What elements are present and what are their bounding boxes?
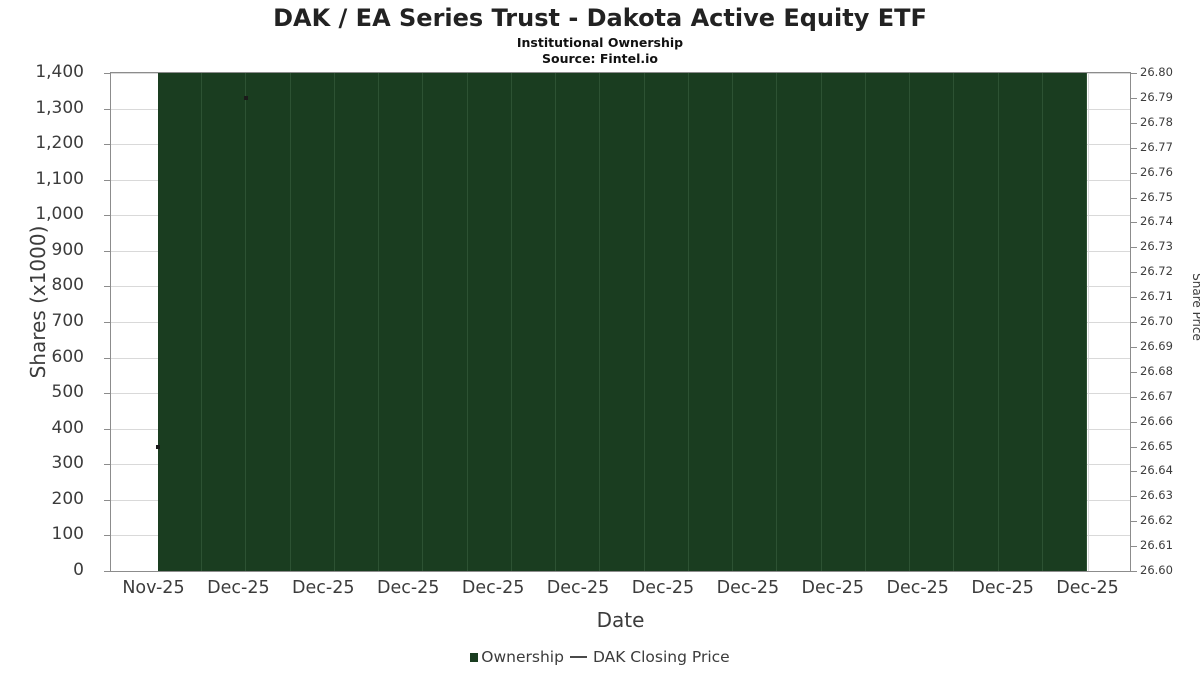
y-axis-left-tick-label: 1,000 bbox=[0, 206, 84, 223]
y-axis-right-tickmark bbox=[1131, 198, 1137, 199]
bar[interactable] bbox=[291, 73, 335, 571]
y-axis-left-tick-label: 300 bbox=[0, 455, 84, 472]
bar[interactable] bbox=[335, 73, 379, 571]
legend-swatch-square-icon bbox=[470, 653, 478, 662]
y-axis-right-tick-label: 26.74 bbox=[1140, 216, 1190, 228]
bar[interactable] bbox=[423, 73, 467, 571]
ownership-bar-series bbox=[111, 73, 1130, 571]
legend-swatch-line-icon bbox=[570, 656, 587, 658]
y-axis-left-tick-label: 0 bbox=[0, 562, 84, 579]
y-axis-right-tickmark bbox=[1131, 98, 1137, 99]
y-axis-right-tickmark bbox=[1131, 571, 1137, 572]
y-axis-right-tickmark bbox=[1131, 471, 1137, 472]
bar[interactable] bbox=[645, 73, 689, 571]
y-axis-right-tickmark bbox=[1131, 247, 1137, 248]
y-axis-left-tick-label: 900 bbox=[0, 242, 84, 259]
y-axis-right-tickmark bbox=[1131, 73, 1137, 74]
y-axis-right-tickmark bbox=[1131, 496, 1137, 497]
bar[interactable] bbox=[733, 73, 777, 571]
legend-item-ownership[interactable]: Ownership bbox=[470, 648, 564, 666]
bar[interactable] bbox=[379, 73, 423, 571]
y-axis-right-tick-label: 26.78 bbox=[1140, 117, 1190, 129]
y-axis-right-tickmark bbox=[1131, 173, 1137, 174]
chart-source-attribution: Source: Fintel.io bbox=[0, 51, 1200, 66]
y-axis-right-tickmark bbox=[1131, 397, 1137, 398]
y-axis-right-tick-label: 26.71 bbox=[1140, 291, 1190, 303]
y-axis-right-tickmark bbox=[1131, 297, 1137, 298]
y-axis-right-tickmark bbox=[1131, 123, 1137, 124]
y-axis-right-tick-label: 26.75 bbox=[1140, 192, 1190, 204]
legend-item-closing-price-label: DAK Closing Price bbox=[593, 648, 730, 666]
y-axis-left-tick-label: 1,200 bbox=[0, 135, 84, 152]
y-axis-right-tick-label: 26.64 bbox=[1140, 465, 1190, 477]
x-axis-title: Date bbox=[110, 608, 1131, 632]
legend-item-ownership-label: Ownership bbox=[481, 648, 564, 666]
y-axis-right-tickmark bbox=[1131, 447, 1137, 448]
y-axis-right-tick-label: 26.60 bbox=[1140, 565, 1190, 577]
y-axis-right-tick-label: 26.66 bbox=[1140, 416, 1190, 428]
y-axis-right-tickmark bbox=[1131, 521, 1137, 522]
chart-title: DAK / EA Series Trust - Dakota Active Eq… bbox=[0, 4, 1200, 32]
y-axis-right-tick-label: 26.79 bbox=[1140, 92, 1190, 104]
y-axis-left-tick-label: 200 bbox=[0, 491, 84, 508]
y-axis-right-tickmark bbox=[1131, 422, 1137, 423]
chart-subtitle: Institutional Ownership bbox=[0, 35, 1200, 50]
bar[interactable] bbox=[866, 73, 910, 571]
y-axis-right-tick-label: 26.67 bbox=[1140, 391, 1190, 403]
y-axis-right-tick-label: 26.72 bbox=[1140, 266, 1190, 278]
bar[interactable] bbox=[777, 73, 821, 571]
y-axis-left-tick-label: 400 bbox=[0, 420, 84, 437]
y-axis-right-tickmark bbox=[1131, 148, 1137, 149]
bar[interactable] bbox=[910, 73, 954, 571]
y-axis-right-tickmark bbox=[1131, 222, 1137, 223]
y-axis-right-tick-label: 26.68 bbox=[1140, 366, 1190, 378]
y-axis-left-tick-label: 800 bbox=[0, 277, 84, 294]
y-axis-right-tick-label: 26.62 bbox=[1140, 515, 1190, 527]
bar[interactable] bbox=[202, 73, 246, 571]
y-axis-left-tick-label: 100 bbox=[0, 526, 84, 543]
bar[interactable] bbox=[158, 73, 202, 571]
bar[interactable] bbox=[246, 73, 290, 571]
bar[interactable] bbox=[512, 73, 556, 571]
bar[interactable] bbox=[954, 73, 998, 571]
legend-item-closing-price[interactable]: DAK Closing Price bbox=[564, 648, 730, 666]
y-axis-left-tick-label: 1,100 bbox=[0, 171, 84, 188]
y-axis-right-tick-label: 26.77 bbox=[1140, 142, 1190, 154]
bar[interactable] bbox=[556, 73, 600, 571]
y-axis-right-tick-label: 26.70 bbox=[1140, 316, 1190, 328]
y-axis-right-tickmark bbox=[1131, 546, 1137, 547]
bar[interactable] bbox=[468, 73, 512, 571]
y-axis-right-tickmark bbox=[1131, 347, 1137, 348]
y-axis-right-tickmark bbox=[1131, 322, 1137, 323]
x-axis-tick-label: Dec-25 bbox=[1028, 580, 1148, 598]
plot-area bbox=[110, 72, 1131, 572]
y-axis-right-tickmark bbox=[1131, 272, 1137, 273]
y-axis-left-tick-label: 600 bbox=[0, 349, 84, 366]
bar[interactable] bbox=[999, 73, 1043, 571]
bar[interactable] bbox=[1043, 73, 1087, 571]
y-axis-left-tick-label: 500 bbox=[0, 384, 84, 401]
y-axis-left-tick-label: 700 bbox=[0, 313, 84, 330]
y-axis-left-tick-label: 1,400 bbox=[0, 64, 84, 81]
y-axis-right-tick-label: 26.76 bbox=[1140, 167, 1190, 179]
y-axis-right-tick-label: 26.65 bbox=[1140, 441, 1190, 453]
bar[interactable] bbox=[689, 73, 733, 571]
y-axis-right-tick-label: 26.63 bbox=[1140, 490, 1190, 502]
y-axis-right-tick-label: 26.80 bbox=[1140, 67, 1190, 79]
y-axis-right-tick-label: 26.69 bbox=[1140, 341, 1190, 353]
y-axis-right-tickmark bbox=[1131, 372, 1137, 373]
y-axis-left-tick-label: 1,300 bbox=[0, 100, 84, 117]
chart-legend: Ownership DAK Closing Price bbox=[0, 648, 1200, 666]
y-axis-right-tick-label: 26.73 bbox=[1140, 241, 1190, 253]
bar[interactable] bbox=[822, 73, 866, 571]
y-axis-right-tick-label: 26.61 bbox=[1140, 540, 1190, 552]
bar[interactable] bbox=[600, 73, 644, 571]
y-axis-right-title: Share Price bbox=[1190, 237, 1200, 377]
